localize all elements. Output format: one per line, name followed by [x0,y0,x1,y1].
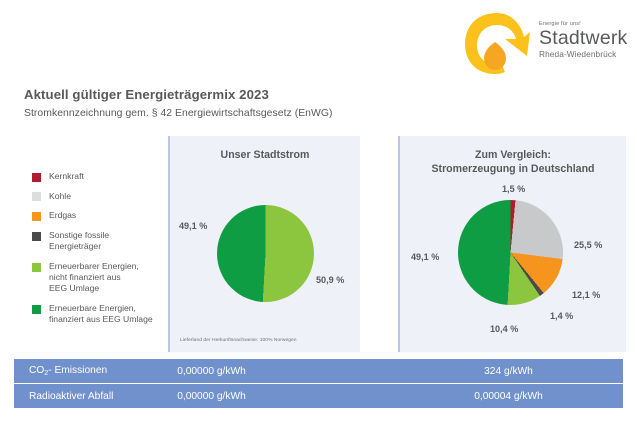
logo-wordmark: Energie für uns! Stadtwerk Rheda-Wiedenb… [539,20,631,60]
pie-label-erdgas: 12,1 % [572,290,600,300]
legend-item-label: Erdgas [49,210,76,221]
pie-chart-deutschland [458,200,563,305]
panel-title-right-line1: Zum Vergleich: [400,149,626,163]
pie-label-ee-nicht-eeg: 10,4 % [490,324,518,334]
panel-title-right: Zum Vergleich: Stromerzeugung in Deutsch… [400,149,626,176]
legend-swatch-icon [32,263,41,272]
page-subtitle: Stromkennzeichnung gem. § 42 Energiewirt… [24,108,333,119]
legend-item-sonstige-fossile: Sonstige fossile Energieträger [32,230,167,252]
table-row: Radioaktiver Abfall 0,00000 g/kWh 0,0000… [14,384,623,408]
logo-location: Rheda-Wiedenbrück [539,49,631,60]
legend-swatch-icon [32,232,41,241]
legend-item-label: Kohle [49,191,71,202]
legend-swatch-icon [32,192,41,201]
legend-swatch-icon [32,305,41,314]
legend-item-ee-nicht-eeg: Erneuerbarer Energien, nicht finanziert … [32,261,167,295]
page-title: Aktuell gültiger Energieträgermix 2023 [24,87,269,102]
legend-item-label: Erneuerbarer Energien, nicht finanziert … [49,261,139,295]
emissions-table: CO2- Emissionen 0,00000 g/kWh 324 g/kWh … [14,359,623,408]
panel-title-right-line2: Stromerzeugung in Deutschland [400,163,626,177]
table-cell-stadtstrom: 0,00000 g/kWh [14,366,409,377]
legend-swatch-icon [32,173,41,182]
pie-label-ee-eeg: 49,1 % [411,252,439,262]
pie-label-sonstige: 1,4 % [550,311,573,321]
panel-footnote: Lieferland der Herkunftsnachweise: 100% … [180,338,297,343]
pie-label-left-509: 50,9 % [316,275,344,285]
pie-label-kernkraft: 1,5 % [502,184,525,194]
flame-swoosh-logo-icon [461,12,533,76]
legend-item-label: Sonstige fossile Energieträger [49,230,109,252]
logo-name: Stadtwerk [539,28,631,49]
brand-logo: Energie für uns! Stadtwerk Rheda-Wiedenb… [455,8,630,80]
table-cell-stadtstrom: 0,00000 g/kWh [14,391,409,402]
legend-item-label: Kernkraft [49,171,84,182]
pie-label-kohle: 25,5 % [574,240,602,250]
pie-chart-stadtstrom [217,205,314,302]
panel-title-left: Unser Stadtstrom [170,149,360,163]
legend-item-erdgas: Erdgas [32,210,167,221]
panel-zum-vergleich: Zum Vergleich: Stromerzeugung in Deutsch… [398,136,626,352]
chart-legend: Kernkraft Kohle Erdgas Sonstige fossile … [32,171,167,334]
table-cell-deutschland: 0,00004 g/kWh [394,391,623,402]
table-row: CO2- Emissionen 0,00000 g/kWh 324 g/kWh [14,359,623,384]
table-cell-deutschland: 324 g/kWh [394,366,623,377]
legend-item-kohle: Kohle [32,191,167,202]
pie-label-left-491: 49,1 % [179,221,207,231]
legend-item-kernkraft: Kernkraft [32,171,167,182]
panel-unser-stadtstrom: Unser Stadtstrom 49,1 % 50,9 % Lieferlan… [168,136,360,352]
legend-swatch-icon [32,212,41,221]
legend-item-label: Erneuerbare Energien, finanziert aus EEG… [49,303,153,325]
legend-item-ee-eeg: Erneuerbare Energien, finanziert aus EEG… [32,303,167,325]
